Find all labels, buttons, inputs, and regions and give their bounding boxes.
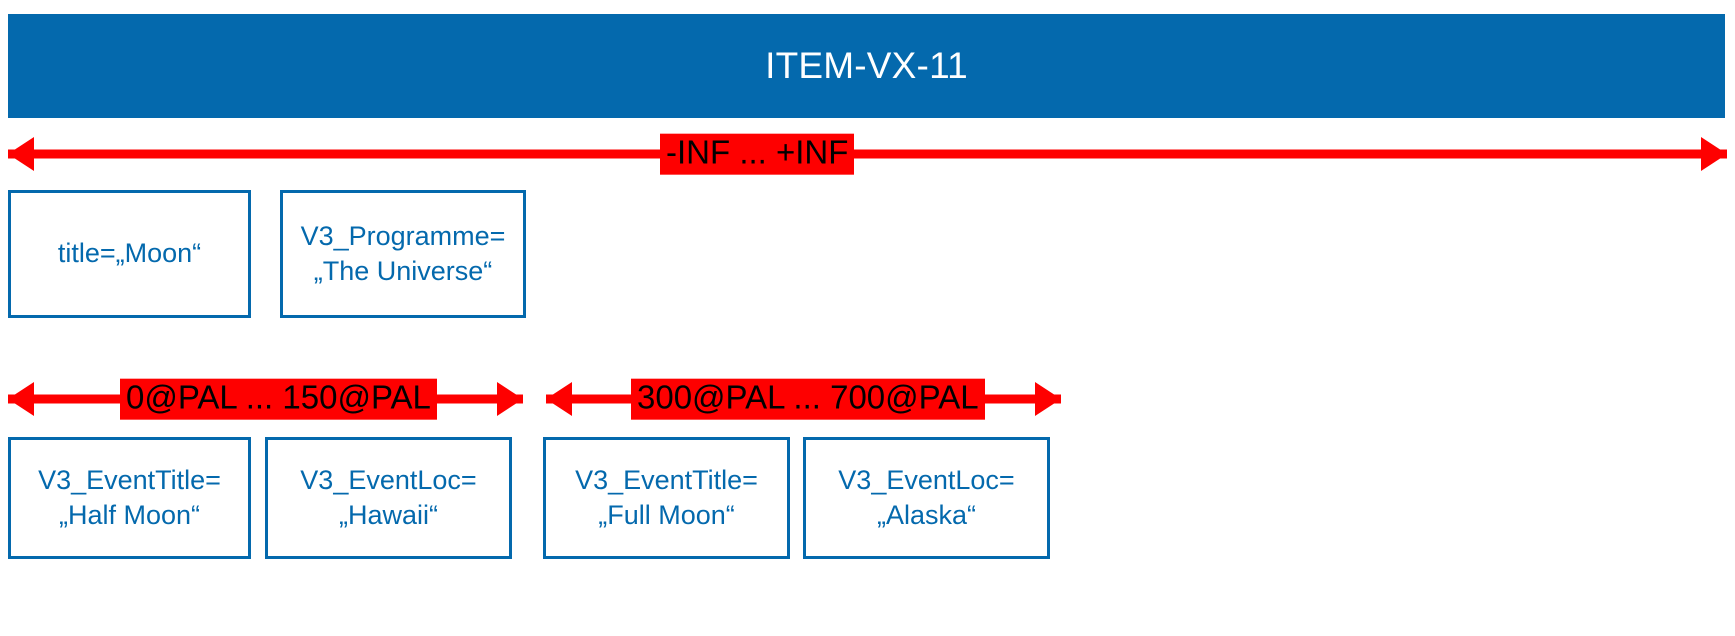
event-range-arrow-1: 0@PAL ... 150@PAL [8, 377, 523, 421]
arrow-head-left-icon [546, 382, 572, 416]
attribute-line-2: „Hawaii“ [339, 498, 438, 533]
attribute-box-title: title=„Moon“ [8, 190, 251, 318]
attribute-line-2: „Alaska“ [877, 498, 976, 533]
page-title: ITEM-VX-11 [765, 45, 968, 87]
event-range-label-1: 0@PAL ... 150@PAL [120, 379, 437, 420]
event-range-arrow-2: 300@PAL ... 700@PAL [546, 377, 1061, 421]
arrow-head-left-icon [8, 382, 34, 416]
attribute-line-1: V3_EventTitle= [575, 463, 758, 498]
attribute-line-1: V3_Programme= [301, 219, 506, 254]
arrow-head-left-icon [8, 137, 34, 171]
event-range-label-2: 300@PAL ... 700@PAL [631, 379, 985, 420]
attribute-line-1: V3_EventTitle= [38, 463, 221, 498]
attribute-box-event2-title: V3_EventTitle= „Full Moon“ [543, 437, 790, 559]
item-range-label: -INF ... +INF [660, 134, 854, 175]
attribute-line-1: V3_EventLoc= [838, 463, 1014, 498]
attribute-box-event2-location: V3_EventLoc= „Alaska“ [803, 437, 1050, 559]
arrow-head-right-icon [497, 382, 523, 416]
attribute-box-event1-location: V3_EventLoc= „Hawaii“ [265, 437, 512, 559]
item-header-bar: ITEM-VX-11 [8, 14, 1725, 118]
attribute-box-programme: V3_Programme= „The Universe“ [280, 190, 526, 318]
attribute-line-2: „The Universe“ [314, 254, 493, 289]
attribute-line-2: „Half Moon“ [59, 498, 200, 533]
attribute-line-1: title=„Moon“ [58, 236, 201, 271]
item-range-arrow: -INF ... +INF [8, 132, 1727, 176]
arrow-head-right-icon [1701, 137, 1727, 171]
arrow-head-right-icon [1035, 382, 1061, 416]
arrow-line [8, 150, 1727, 159]
attribute-line-2: „Full Moon“ [598, 498, 735, 533]
attribute-box-event1-title: V3_EventTitle= „Half Moon“ [8, 437, 251, 559]
attribute-line-1: V3_EventLoc= [300, 463, 476, 498]
